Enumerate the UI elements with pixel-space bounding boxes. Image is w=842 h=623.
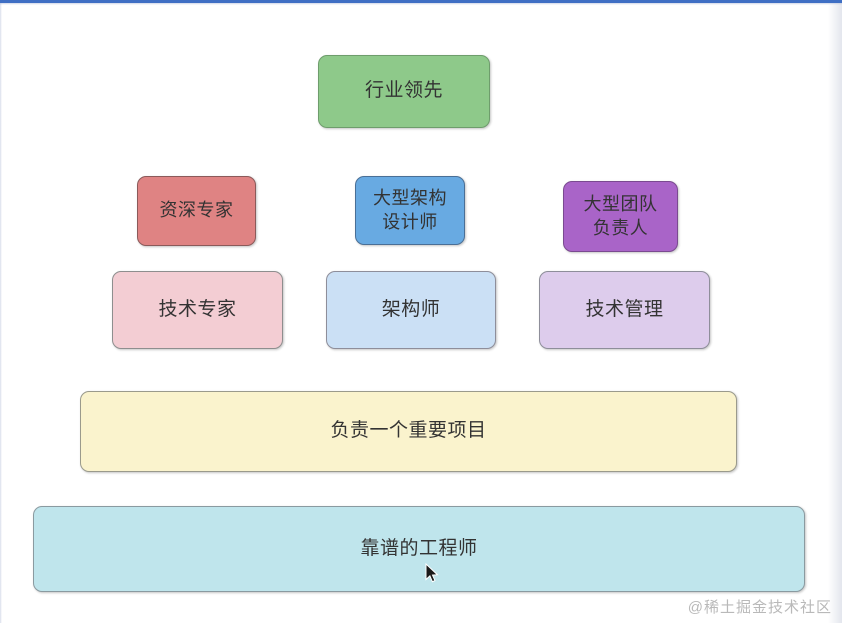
node-tech-expert[interactable]: 技术专家 xyxy=(112,271,283,349)
node-important-project[interactable]: 负责一个重要项目 xyxy=(80,391,737,472)
watermark-text: @稀土掘金技术社区 xyxy=(688,596,832,617)
screen: 行业领先 资深专家 大型架构 设计师 大型团队 负责人 技术专家 架构师 技术管… xyxy=(0,0,842,623)
node-large-team-leader[interactable]: 大型团队 负责人 xyxy=(563,181,678,252)
node-reliable-engineer[interactable]: 靠谱的工程师 xyxy=(33,506,805,592)
node-industry-leading[interactable]: 行业领先 xyxy=(318,55,490,128)
node-large-architecture-designer[interactable]: 大型架构 设计师 xyxy=(355,176,465,245)
node-architect[interactable]: 架构师 xyxy=(326,271,496,349)
node-senior-expert[interactable]: 资深专家 xyxy=(137,176,256,246)
node-tech-management[interactable]: 技术管理 xyxy=(539,271,710,349)
diagram-canvas: 行业领先 资深专家 大型架构 设计师 大型团队 负责人 技术专家 架构师 技术管… xyxy=(0,0,842,623)
